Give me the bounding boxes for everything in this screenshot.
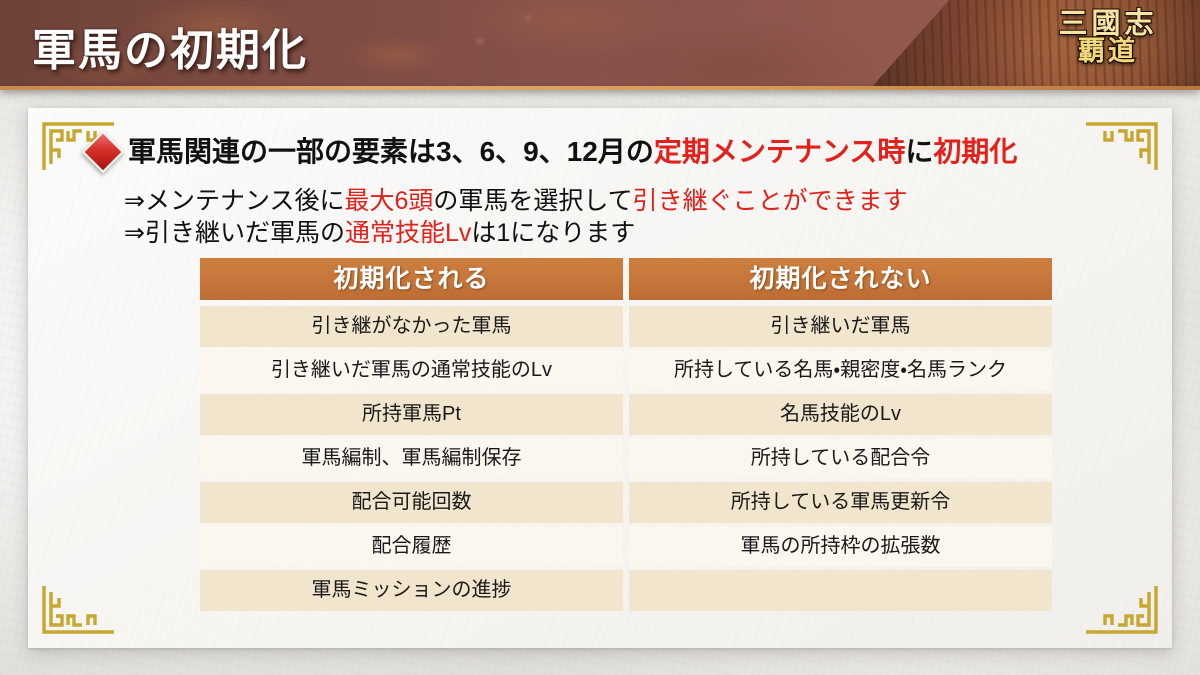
table-row-kept-cell: 所持している軍馬更新令 xyxy=(629,482,1052,523)
subline-2-text: ⇒引き継いだ軍馬の通常技能Lvは1になります xyxy=(124,213,635,249)
subline-2-run-2: は1になります xyxy=(471,219,635,247)
headline-run-0: 軍馬関連の一部の要素は3、6、9、12月の xyxy=(128,136,654,167)
table-row-kept-cell xyxy=(629,570,1052,611)
table-column-reset: 初期化される 引き継がなかった軍馬引き継いだ軍馬の通常技能のLv所持軍馬Pt軍馬… xyxy=(200,258,623,611)
subline-1-run-3: 引き継ぐことができます xyxy=(633,187,908,215)
subline-1-text: ⇒メンテナンス後に最大6頭の軍馬を選択して引き継ぐことができます xyxy=(124,181,908,217)
table-body-reset: 引き継がなかった軍馬引き継いだ軍馬の通常技能のLv所持軍馬Pt軍馬編制、軍馬編制… xyxy=(200,306,623,611)
table-row-reset-cell: 軍馬ミッションの進捗 xyxy=(200,570,623,611)
panel-content: 軍馬関連の一部の要素は3、6、9、12月の定期メンテナンス時に初期化 ⇒メンテナ… xyxy=(28,108,1172,648)
table-row-kept-cell: 名馬技能のLv xyxy=(629,394,1052,435)
subline-2-run-0: ⇒引き継いだ軍馬の xyxy=(124,219,345,247)
game-logo: 三國志 覇道 xyxy=(1038,6,1178,84)
table-row-reset-cell: 引き継がなかった軍馬 xyxy=(200,306,623,347)
table-row-reset-cell: 配合可能回数 xyxy=(200,482,623,523)
table-row-kept-cell: 所持している配合令 xyxy=(629,438,1052,479)
headline-run-1: 定期メンテナンス時 xyxy=(654,136,905,167)
subline-1-run-1: 最大6頭 xyxy=(344,187,433,215)
table-row-kept-cell: 所持している名馬・親密度・名馬ランク xyxy=(629,350,1052,391)
table-body-kept: 引き継いだ軍馬所持している名馬・親密度・名馬ランク名馬技能のLv所持している配合… xyxy=(629,306,1052,611)
headline-text: 軍馬関連の一部の要素は3、6、9、12月の定期メンテナンス時に初期化 xyxy=(128,136,1017,168)
subline-2-run-1: 通常技能Lv xyxy=(345,219,471,247)
subline-1-run-0: ⇒メンテナンス後に xyxy=(124,187,344,215)
table-row-reset-cell: 所持軍馬Pt xyxy=(200,394,623,435)
game-logo-line1: 三國志 xyxy=(1038,6,1178,40)
red-diamond-icon xyxy=(82,131,124,173)
table-header-reset: 初期化される xyxy=(200,258,623,300)
table-header-kept: 初期化されない xyxy=(629,258,1052,300)
headline-run-2: に xyxy=(905,136,933,167)
table-row-reset-cell: 軍馬編制、軍馬編制保存 xyxy=(200,438,623,479)
title-bar-underline xyxy=(0,86,1200,90)
table-column-kept: 初期化されない 引き継いだ軍馬所持している名馬・親密度・名馬ランク名馬技能のLv… xyxy=(629,258,1052,611)
table-row-kept-cell: 軍馬の所持枠の拡張数 xyxy=(629,526,1052,567)
initialization-table: 初期化される 引き継がなかった軍馬引き継いだ軍馬の通常技能のLv所持軍馬Pt軍馬… xyxy=(200,258,1052,611)
content-panel: 軍馬関連の一部の要素は3、6、9、12月の定期メンテナンス時に初期化 ⇒メンテナ… xyxy=(28,108,1172,648)
page-title: 軍馬の初期化 xyxy=(32,14,308,78)
table-row-reset-cell: 配合履歴 xyxy=(200,526,623,567)
headline-row: 軍馬関連の一部の要素は3、6、9、12月の定期メンテナンス時に初期化 xyxy=(88,136,1108,168)
table-row-kept-cell: 引き継いだ軍馬 xyxy=(629,306,1052,347)
game-logo-line2: 覇道 xyxy=(1038,37,1178,67)
subline-1-run-2: の軍馬を選択して xyxy=(433,187,632,215)
table-row-reset-cell: 引き継いだ軍馬の通常技能のLv xyxy=(200,350,623,391)
headline-run-3: 初期化 xyxy=(933,136,1017,167)
